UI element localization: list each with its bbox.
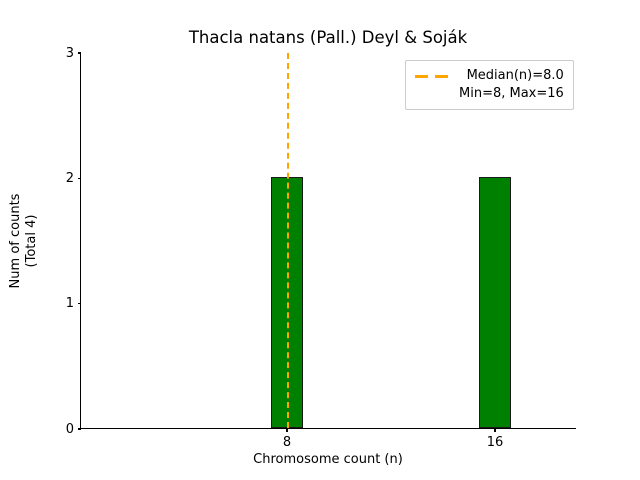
x-tick-mark <box>286 428 287 432</box>
median-vline <box>287 53 289 428</box>
y-tick-label: 2 <box>66 170 74 187</box>
chart-title: Thacla natans (Pall.) Deyl & Soják <box>80 28 576 48</box>
y-tick-label: 1 <box>66 295 74 312</box>
chart-figure: Thacla natans (Pall.) Deyl & Soják Num o… <box>0 0 640 480</box>
y-tick-label: 3 <box>66 45 74 62</box>
legend-entry-median: Median(n)=8.0 Min=8, Max=16 <box>414 67 564 103</box>
x-tick-mark <box>494 428 495 432</box>
y-tick-label: 0 <box>66 421 74 438</box>
legend-text-block: Median(n)=8.0 Min=8, Max=16 <box>459 67 564 103</box>
x-axis-label: Chromosome count (n) <box>80 452 576 468</box>
y-axis-label-line2: (Total 4) <box>24 194 40 289</box>
y-tick-mark <box>78 428 82 429</box>
plot-area: 0 1 2 3 8 16 <box>80 53 576 429</box>
y-axis-label-line1: Num of counts <box>8 194 23 289</box>
y-tick-mark <box>78 178 82 179</box>
bar-n-16 <box>479 177 511 428</box>
dashed-line-icon <box>414 67 450 85</box>
x-tick-label: 8 <box>247 434 327 451</box>
legend-label-minmax: Min=8, Max=16 <box>459 85 564 103</box>
chart-legend: Median(n)=8.0 Min=8, Max=16 <box>405 60 574 110</box>
legend-label-median: Median(n)=8.0 <box>467 67 564 85</box>
y-tick-mark <box>78 303 82 304</box>
x-tick-label: 16 <box>455 434 535 451</box>
y-tick-mark <box>78 52 82 53</box>
